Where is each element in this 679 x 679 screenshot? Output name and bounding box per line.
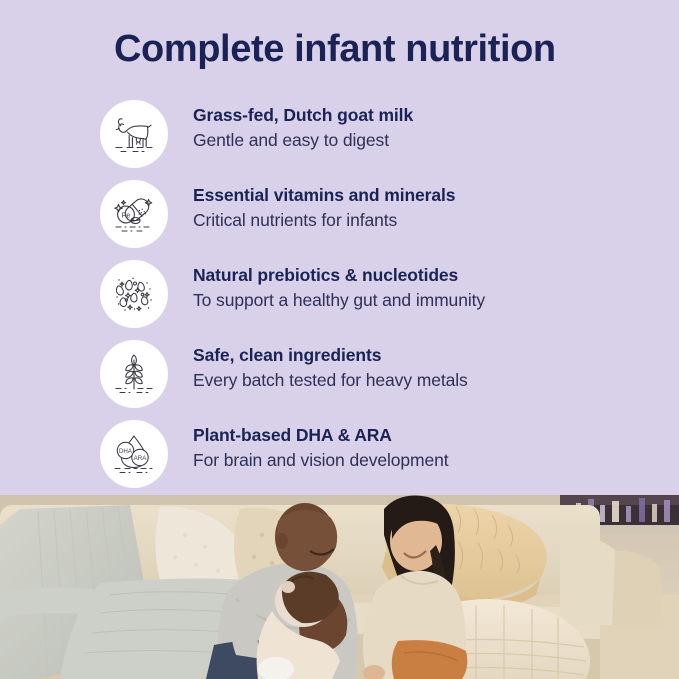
feature-text: Grass-fed, Dutch goat milk Gentle and ea… (193, 103, 663, 153)
feature-text: Plant-based DHA & ARA For brain and visi… (193, 423, 663, 473)
probiotic-bacteria-icon (100, 260, 168, 328)
product-feature-infographic: Complete infant nutrition (0, 0, 679, 679)
feature-row: Grass-fed, Dutch goat milk Gentle and ea… (0, 96, 679, 176)
feature-subtitle: Every batch tested for heavy metals (193, 368, 663, 393)
feature-text: Essential vitamins and minerals Critical… (193, 183, 663, 233)
lifestyle-photo (0, 495, 679, 679)
feature-subtitle: For brain and vision development (193, 448, 663, 473)
dha-label: DHA (119, 448, 133, 455)
feature-row: Safe, clean ingredients Every batch test… (0, 336, 679, 416)
page-title: Complete infant nutrition (114, 28, 556, 71)
feature-title: Essential vitamins and minerals (193, 183, 663, 208)
feature-row: Natural prebiotics & nucleotides To supp… (0, 256, 679, 336)
fe-label: Fe (122, 211, 131, 220)
feature-row: DHA ARA Plant-based DHA & ARA For b (0, 416, 679, 496)
info-panel: Complete infant nutrition (0, 0, 679, 495)
ara-label: ARA (134, 455, 148, 462)
feature-subtitle: To support a healthy gut and immunity (193, 288, 663, 313)
feature-text: Natural prebiotics & nucleotides To supp… (193, 263, 663, 313)
goat-icon (100, 100, 168, 168)
feature-subtitle: Critical nutrients for infants (193, 208, 663, 233)
feature-list: Grass-fed, Dutch goat milk Gentle and ea… (0, 96, 679, 496)
feature-title: Natural prebiotics & nucleotides (193, 263, 663, 288)
feature-row: Fe (0, 176, 679, 256)
feature-title: Grass-fed, Dutch goat milk (193, 103, 663, 128)
feature-title: Safe, clean ingredients (193, 343, 663, 368)
feature-subtitle: Gentle and easy to digest (193, 128, 663, 153)
dha-ara-droplet-icon: DHA ARA (100, 420, 168, 488)
vitamin-capsule-icon: Fe (100, 180, 168, 248)
feature-text: Safe, clean ingredients Every batch test… (193, 343, 663, 393)
feature-title: Plant-based DHA & ARA (193, 423, 663, 448)
wheat-stalk-icon (100, 340, 168, 408)
